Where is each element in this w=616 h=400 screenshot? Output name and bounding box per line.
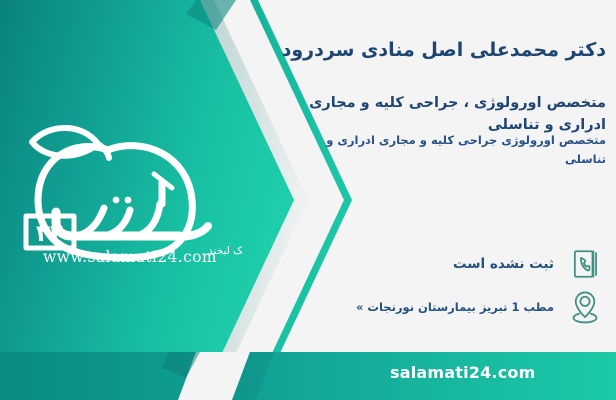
doctor-profile-card: ۲۴ براحتی یک لبخند www.salamati24.com دک… bbox=[0, 0, 616, 400]
footer-bar: salamati24.com bbox=[0, 352, 616, 400]
doctor-specialty-secondary: متخصص اورولوژی جراحی کلیه و مجاری ادراری… bbox=[306, 131, 606, 169]
doctor-specialty-primary: متخصص اورولوژی ، جراحی کلیه و مجاری ادرا… bbox=[306, 93, 606, 137]
logo-badge-24: ۲۴ bbox=[36, 221, 64, 247]
location-pin-icon bbox=[568, 288, 602, 326]
doctor-name: دکتر محمدعلی اصل منادی سردرود bbox=[306, 38, 606, 64]
phone-value: ثبت نشده است bbox=[453, 256, 554, 272]
phone-book-icon bbox=[568, 245, 602, 283]
logo-website-url: www.salamati24.com bbox=[30, 248, 230, 266]
salamati24-logo: ۲۴ براحتی یک لبخند www.salamati24.com bbox=[12, 108, 242, 273]
phone-row[interactable]: ثبت نشده است bbox=[453, 245, 602, 283]
address-value: مطب 1 تبریز بیمارستان نورنجات » bbox=[356, 300, 554, 314]
card-content: دکتر محمدعلی اصل منادی سردرود متخصص اورو… bbox=[286, 0, 616, 352]
footer-website[interactable]: salamati24.com bbox=[390, 363, 536, 382]
address-row[interactable]: مطب 1 تبریز بیمارستان نورنجات » bbox=[356, 288, 602, 326]
